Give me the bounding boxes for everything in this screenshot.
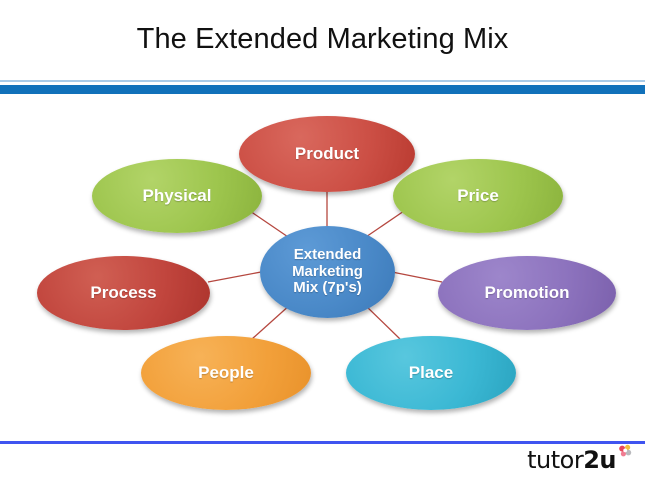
- logo-suffix: 2u: [583, 446, 616, 474]
- footer-rule: [0, 441, 645, 444]
- node-product-label: Product: [295, 144, 359, 163]
- node-people-label: People: [198, 363, 254, 382]
- node-physical-label: Physical: [143, 186, 212, 205]
- node-promotion[interactable]: Promotion: [438, 256, 616, 330]
- node-process-label: Process: [90, 283, 156, 302]
- logo-wordmark: tutor2u: [527, 448, 616, 472]
- logo-prefix: tutor: [527, 446, 583, 474]
- node-center-extended-marketing-mix[interactable]: Extended Marketing Mix (7p's): [260, 226, 395, 318]
- marketing-mix-diagram: Product Price Promotion Place People Pro…: [0, 96, 645, 436]
- header-rule-thick: [0, 85, 645, 94]
- node-people[interactable]: People: [141, 336, 311, 410]
- center-label-line2: Marketing: [292, 264, 363, 281]
- node-physical[interactable]: Physical: [92, 159, 262, 233]
- center-label-line1: Extended: [292, 247, 363, 264]
- tutor2u-logo: tutor2u: [527, 448, 633, 472]
- header-rule-thin: [0, 80, 645, 82]
- node-process[interactable]: Process: [37, 256, 210, 330]
- node-place[interactable]: Place: [346, 336, 516, 410]
- node-product[interactable]: Product: [239, 116, 415, 192]
- node-promotion-label: Promotion: [485, 283, 570, 302]
- node-price-label: Price: [457, 186, 499, 205]
- page-title: The Extended Marketing Mix: [0, 22, 645, 57]
- slide-canvas: The Extended Marketing Mix Product Price…: [0, 0, 645, 483]
- flower-icon: [617, 444, 633, 460]
- center-label-line3: Mix (7p's): [292, 280, 363, 297]
- node-place-label: Place: [409, 363, 453, 382]
- node-price[interactable]: Price: [393, 159, 563, 233]
